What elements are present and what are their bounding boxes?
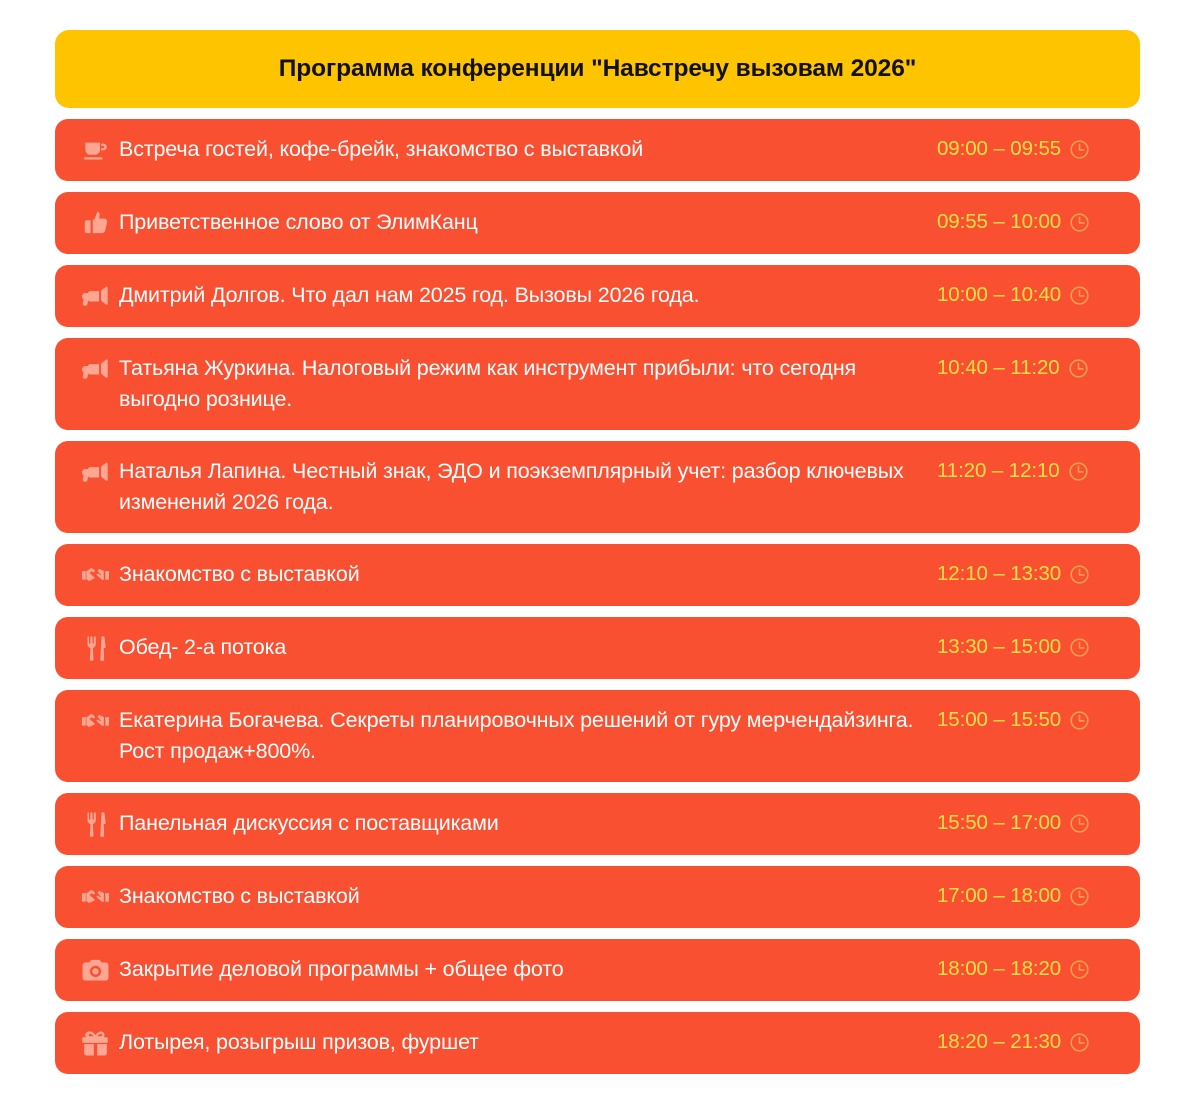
schedule-row-time-text: 18:00 – 18:20 (937, 956, 1061, 983)
schedule-row-title: Знакомство с выставкой (119, 558, 935, 590)
schedule-row-time: 10:00 – 10:40 (937, 279, 1089, 309)
handshake-icon (73, 560, 117, 590)
schedule-row[interactable]: Знакомство с выставкой12:10 – 13:30 (55, 544, 1140, 606)
schedule-row-time: 09:55 – 10:00 (937, 206, 1089, 236)
clock-icon (1070, 960, 1089, 979)
schedule-row-time: 11:20 – 12:10 (937, 455, 1088, 485)
schedule-row-title: Наталья Лапина. Честный знак, ЭДО и поэк… (119, 455, 935, 517)
clock-icon (1070, 814, 1089, 833)
schedule-row-time-text: 12:10 – 13:30 (937, 561, 1061, 588)
schedule-row-time-text: 15:00 – 15:50 (937, 707, 1061, 734)
page-title: Программа конференции "Навстречу вызовам… (279, 54, 917, 83)
schedule-row[interactable]: Знакомство с выставкой17:00 – 18:00 (55, 866, 1140, 928)
thumbs-up-icon (73, 208, 117, 238)
schedule-list: Встреча гостей, кофе-брейк, знакомство с… (55, 119, 1140, 1074)
schedule-row-title: Закрытие деловой программы + общее фото (119, 953, 935, 985)
schedule-row-title: Татьяна Журкина. Налоговый режим как инс… (119, 352, 935, 414)
megaphone-icon (73, 281, 117, 311)
clock-icon (1070, 711, 1089, 730)
gift-icon (73, 1028, 117, 1058)
handshake-icon (73, 882, 117, 912)
schedule-row-title: Дмитрий Долгов. Что дал нам 2025 год. Вы… (119, 279, 935, 311)
schedule-row-time: 09:00 – 09:55 (937, 133, 1089, 163)
clock-icon (1070, 1033, 1089, 1052)
schedule-row[interactable]: Закрытие деловой программы + общее фото1… (55, 939, 1140, 1001)
schedule-row-title: Лотырея, розыгрыш призов, фуршет (119, 1026, 935, 1058)
schedule-row-time: 18:00 – 18:20 (937, 953, 1089, 983)
clock-icon (1070, 565, 1089, 584)
schedule-row[interactable]: Лотырея, розыгрыш призов, фуршет18:20 – … (55, 1012, 1140, 1074)
clock-icon (1070, 286, 1089, 305)
schedule-row-time-text: 10:00 – 10:40 (937, 282, 1061, 309)
schedule-row-time: 13:30 – 15:00 (937, 631, 1089, 661)
schedule-row-time-text: 09:55 – 10:00 (937, 209, 1061, 236)
coffee-cup-icon (73, 135, 117, 165)
schedule-row-time: 10:40 – 11:20 (937, 352, 1088, 382)
schedule-row[interactable]: Татьяна Журкина. Налоговый режим как инс… (55, 338, 1140, 430)
schedule-row-time: 15:50 – 17:00 (937, 807, 1089, 837)
clock-icon (1069, 359, 1088, 378)
clock-icon (1069, 462, 1088, 481)
schedule-row[interactable]: Дмитрий Долгов. Что дал нам 2025 год. Вы… (55, 265, 1140, 327)
schedule-row[interactable]: Встреча гостей, кофе-брейк, знакомство с… (55, 119, 1140, 181)
clock-icon (1070, 638, 1089, 657)
schedule-row[interactable]: Приветственное слово от ЭлимКанц09:55 – … (55, 192, 1140, 254)
schedule-row-time: 12:10 – 13:30 (937, 558, 1089, 588)
schedule-row[interactable]: Екатерина Богачева. Секреты планировочны… (55, 690, 1140, 782)
schedule-row-time: 15:00 – 15:50 (937, 704, 1089, 734)
camera-icon (73, 955, 117, 985)
conference-program: Программа конференции "Навстречу вызовам… (0, 0, 1186, 1106)
fork-knife-icon (73, 633, 117, 663)
megaphone-icon (73, 457, 117, 487)
clock-icon (1070, 887, 1089, 906)
schedule-row-time: 17:00 – 18:00 (937, 880, 1089, 910)
fork-knife-icon (73, 809, 117, 839)
schedule-row-title: Екатерина Богачева. Секреты планировочны… (119, 704, 935, 766)
schedule-row-time-text: 18:20 – 21:30 (937, 1029, 1061, 1056)
schedule-row-time-text: 09:00 – 09:55 (937, 136, 1061, 163)
schedule-row[interactable]: Наталья Лапина. Честный знак, ЭДО и поэк… (55, 441, 1140, 533)
clock-icon (1070, 213, 1089, 232)
schedule-row-time-text: 17:00 – 18:00 (937, 883, 1061, 910)
schedule-row-time-text: 13:30 – 15:00 (937, 634, 1061, 661)
schedule-row-title: Знакомство с выставкой (119, 880, 935, 912)
megaphone-icon (73, 354, 117, 384)
clock-icon (1070, 140, 1089, 159)
schedule-row-time-text: 10:40 – 11:20 (937, 355, 1060, 382)
schedule-row-title: Встреча гостей, кофе-брейк, знакомство с… (119, 133, 935, 165)
schedule-row-title: Панельная дискуссия с поставщиками (119, 807, 935, 839)
schedule-row-time-text: 15:50 – 17:00 (937, 810, 1061, 837)
handshake-icon (73, 706, 117, 736)
schedule-row-time-text: 11:20 – 12:10 (937, 458, 1060, 485)
program-header-banner: Программа конференции "Навстречу вызовам… (55, 30, 1140, 108)
schedule-row[interactable]: Панельная дискуссия с поставщиками15:50 … (55, 793, 1140, 855)
schedule-row-time: 18:20 – 21:30 (937, 1026, 1089, 1056)
schedule-row-title: Обед- 2-а потока (119, 631, 935, 663)
schedule-row[interactable]: Обед- 2-а потока13:30 – 15:00 (55, 617, 1140, 679)
schedule-row-title: Приветственное слово от ЭлимКанц (119, 206, 935, 238)
